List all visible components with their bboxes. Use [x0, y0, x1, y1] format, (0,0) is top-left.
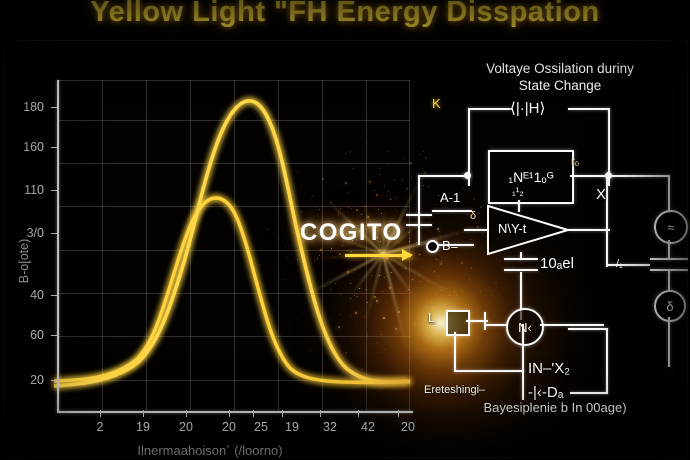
- label-k: K: [432, 96, 441, 111]
- wire-right-bottom: [668, 317, 670, 367]
- circuit-panel: Voltaye Ossilation duriny State Change K…: [418, 52, 690, 452]
- wire-source-cap: [668, 240, 670, 260]
- y-tick: [51, 107, 59, 108]
- wire-switch-down: [606, 217, 608, 267]
- circuit-caption: Bayesiplenie b In 00age): [426, 400, 684, 415]
- circuit-title-line1: Voltaye Ossilation duriny: [486, 61, 634, 76]
- current-source[interactable]: δ: [654, 290, 686, 322]
- wire-l-bar: [484, 312, 486, 330]
- x-tick: [358, 410, 359, 417]
- circuit-title: Voltaye Ossilation duriny State Change: [440, 60, 680, 94]
- main-block-label: ₁Nᴱ¹1ₒᴳ: [508, 169, 553, 185]
- wire-cap-down: [668, 270, 670, 292]
- wire-i-branch: [608, 264, 650, 266]
- wire-input-a: [432, 210, 472, 212]
- x-tick: [320, 410, 321, 417]
- wire-node-right: [540, 324, 604, 326]
- lower-node-label: N‹: [518, 320, 532, 335]
- amplifier-label: N\Y-t: [498, 221, 526, 236]
- y-axis-line: [57, 80, 59, 412]
- x-tick-label: 42: [348, 420, 388, 434]
- wire-switch-up: [606, 175, 608, 217]
- y-tick-label: 110: [0, 183, 44, 197]
- y-tick-label: 160: [0, 140, 44, 154]
- wire-amp-vdd: [518, 200, 520, 212]
- wire-to-source: [608, 175, 670, 177]
- current-source-glyph: δ: [666, 299, 673, 314]
- label-switch-x: X: [596, 186, 606, 203]
- x-tick-label: 2: [80, 420, 120, 434]
- x-axis-title: Ilnermaahoison´ (/loorno): [30, 443, 390, 458]
- wire-top-right: [568, 108, 610, 110]
- y-tick: [51, 233, 59, 234]
- wire-out-main: [570, 175, 608, 177]
- circuit-title-line2: State Change: [519, 78, 602, 93]
- label-12: ₁¹₂: [512, 186, 524, 198]
- wire-left-rail: [418, 175, 420, 245]
- y-axis-title: B-o[ote): [17, 206, 31, 316]
- label-input-a: A-1: [440, 190, 460, 205]
- amplifier[interactable]: N\Y-t: [486, 204, 570, 256]
- label-top-gate: ⟨|·|H⟩: [510, 99, 545, 117]
- chart-panel: 180 160 110 3/0 40 60 20 B-o[ote) 2 19 2…: [0, 58, 440, 460]
- x-tick-label: 32: [310, 420, 350, 434]
- x-tick: [398, 410, 399, 417]
- cogito-annotation: COGITO: [300, 219, 403, 247]
- x-tick-label: 19: [272, 420, 312, 434]
- x-tick: [100, 410, 101, 417]
- label-10ael: 10ₐel: [540, 255, 574, 272]
- y-tick: [51, 380, 59, 381]
- label-delta: δ: [470, 210, 476, 222]
- wire-input-b: [438, 244, 474, 246]
- x-tick: [186, 410, 187, 417]
- wire-cap-mid-up: [520, 252, 522, 260]
- y-tick-label: 60: [0, 328, 44, 342]
- y-tick: [51, 295, 59, 296]
- screenshot-root: Yellow Light "FH Energy Disspation: [0, 0, 690, 460]
- wire-bottom-close: [570, 392, 608, 394]
- wire-in-main: [418, 175, 468, 177]
- page-title: Yellow Light "FH Energy Disspation: [0, 0, 690, 29]
- terminal-b[interactable]: [426, 240, 439, 253]
- label-bottom-1: IN–'X₂: [528, 360, 570, 377]
- impulse-bars: [64, 224, 394, 383]
- x-axis-line: [57, 411, 413, 413]
- wire-feedback-bottom: [454, 370, 524, 372]
- y-tick-label: 20: [0, 373, 44, 387]
- wire-amp-in: [464, 229, 488, 231]
- y-tick: [51, 335, 59, 336]
- lower-node-circle[interactable]: N‹: [506, 308, 544, 346]
- y-tick-label: 180: [0, 100, 44, 114]
- label-bottom-2: -|‹-Dₐ: [528, 384, 563, 401]
- label-r0: r₀: [571, 156, 579, 168]
- wire-bottom-right-down: [606, 328, 608, 394]
- wire-l-down: [454, 332, 456, 372]
- main-logic-block[interactable]: ₁Nᴱ¹1ₒᴳ: [488, 150, 574, 204]
- label-l: L: [428, 310, 435, 325]
- x-tick: [282, 410, 283, 417]
- y-tick: [51, 190, 59, 191]
- flow-arrow-icon: [345, 254, 411, 257]
- wire-node-left: [486, 324, 508, 326]
- y-tick: [51, 147, 59, 148]
- wire-amp-out: [568, 229, 610, 231]
- label-feedback: Ereteshingi–: [424, 384, 485, 396]
- ac-source-glyph: ≈: [667, 220, 674, 235]
- wire-bottom-rail: [522, 324, 524, 400]
- wire-top-left: [468, 108, 512, 110]
- x-tick-label: 19: [123, 420, 163, 434]
- x-tick: [229, 410, 230, 417]
- x-tick-label: 20: [166, 420, 206, 434]
- l-element-box[interactable]: [446, 310, 470, 336]
- x-tick: [253, 410, 254, 417]
- ac-source[interactable]: ≈: [654, 210, 688, 244]
- wire-bottom-right: [568, 328, 608, 330]
- wire-source-down: [668, 175, 670, 213]
- x-tick: [143, 410, 144, 417]
